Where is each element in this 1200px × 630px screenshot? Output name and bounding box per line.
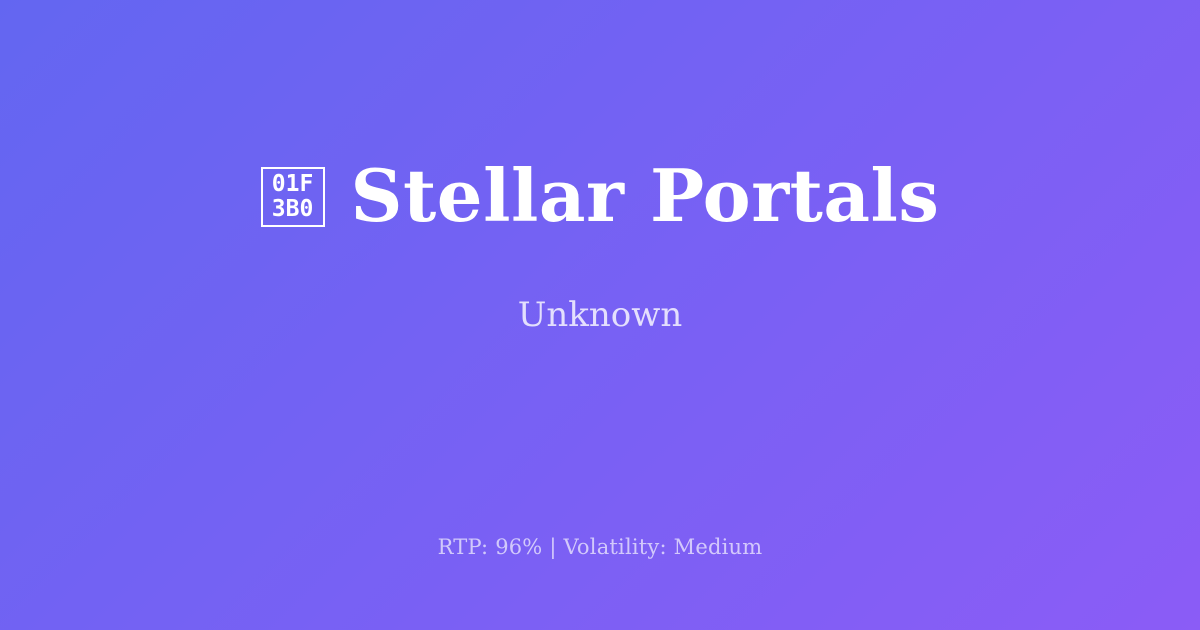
page-title: Stellar Portals bbox=[351, 158, 940, 234]
og-share-card: 01F 3B0 Stellar Portals Unknown RTP: 96%… bbox=[0, 0, 1200, 630]
card-footer-meta: RTP: 96% | Volatility: Medium bbox=[0, 535, 1200, 560]
card-hero: 01F 3B0 Stellar Portals Unknown bbox=[0, 0, 1200, 500]
title-row: 01F 3B0 Stellar Portals bbox=[261, 158, 940, 234]
tofu-codepoint-top: 01F bbox=[272, 172, 314, 197]
tofu-codepoint-bottom: 3B0 bbox=[272, 197, 314, 222]
card-subtitle: Unknown bbox=[518, 295, 683, 336]
slot-machine-icon: 01F 3B0 bbox=[261, 167, 325, 227]
